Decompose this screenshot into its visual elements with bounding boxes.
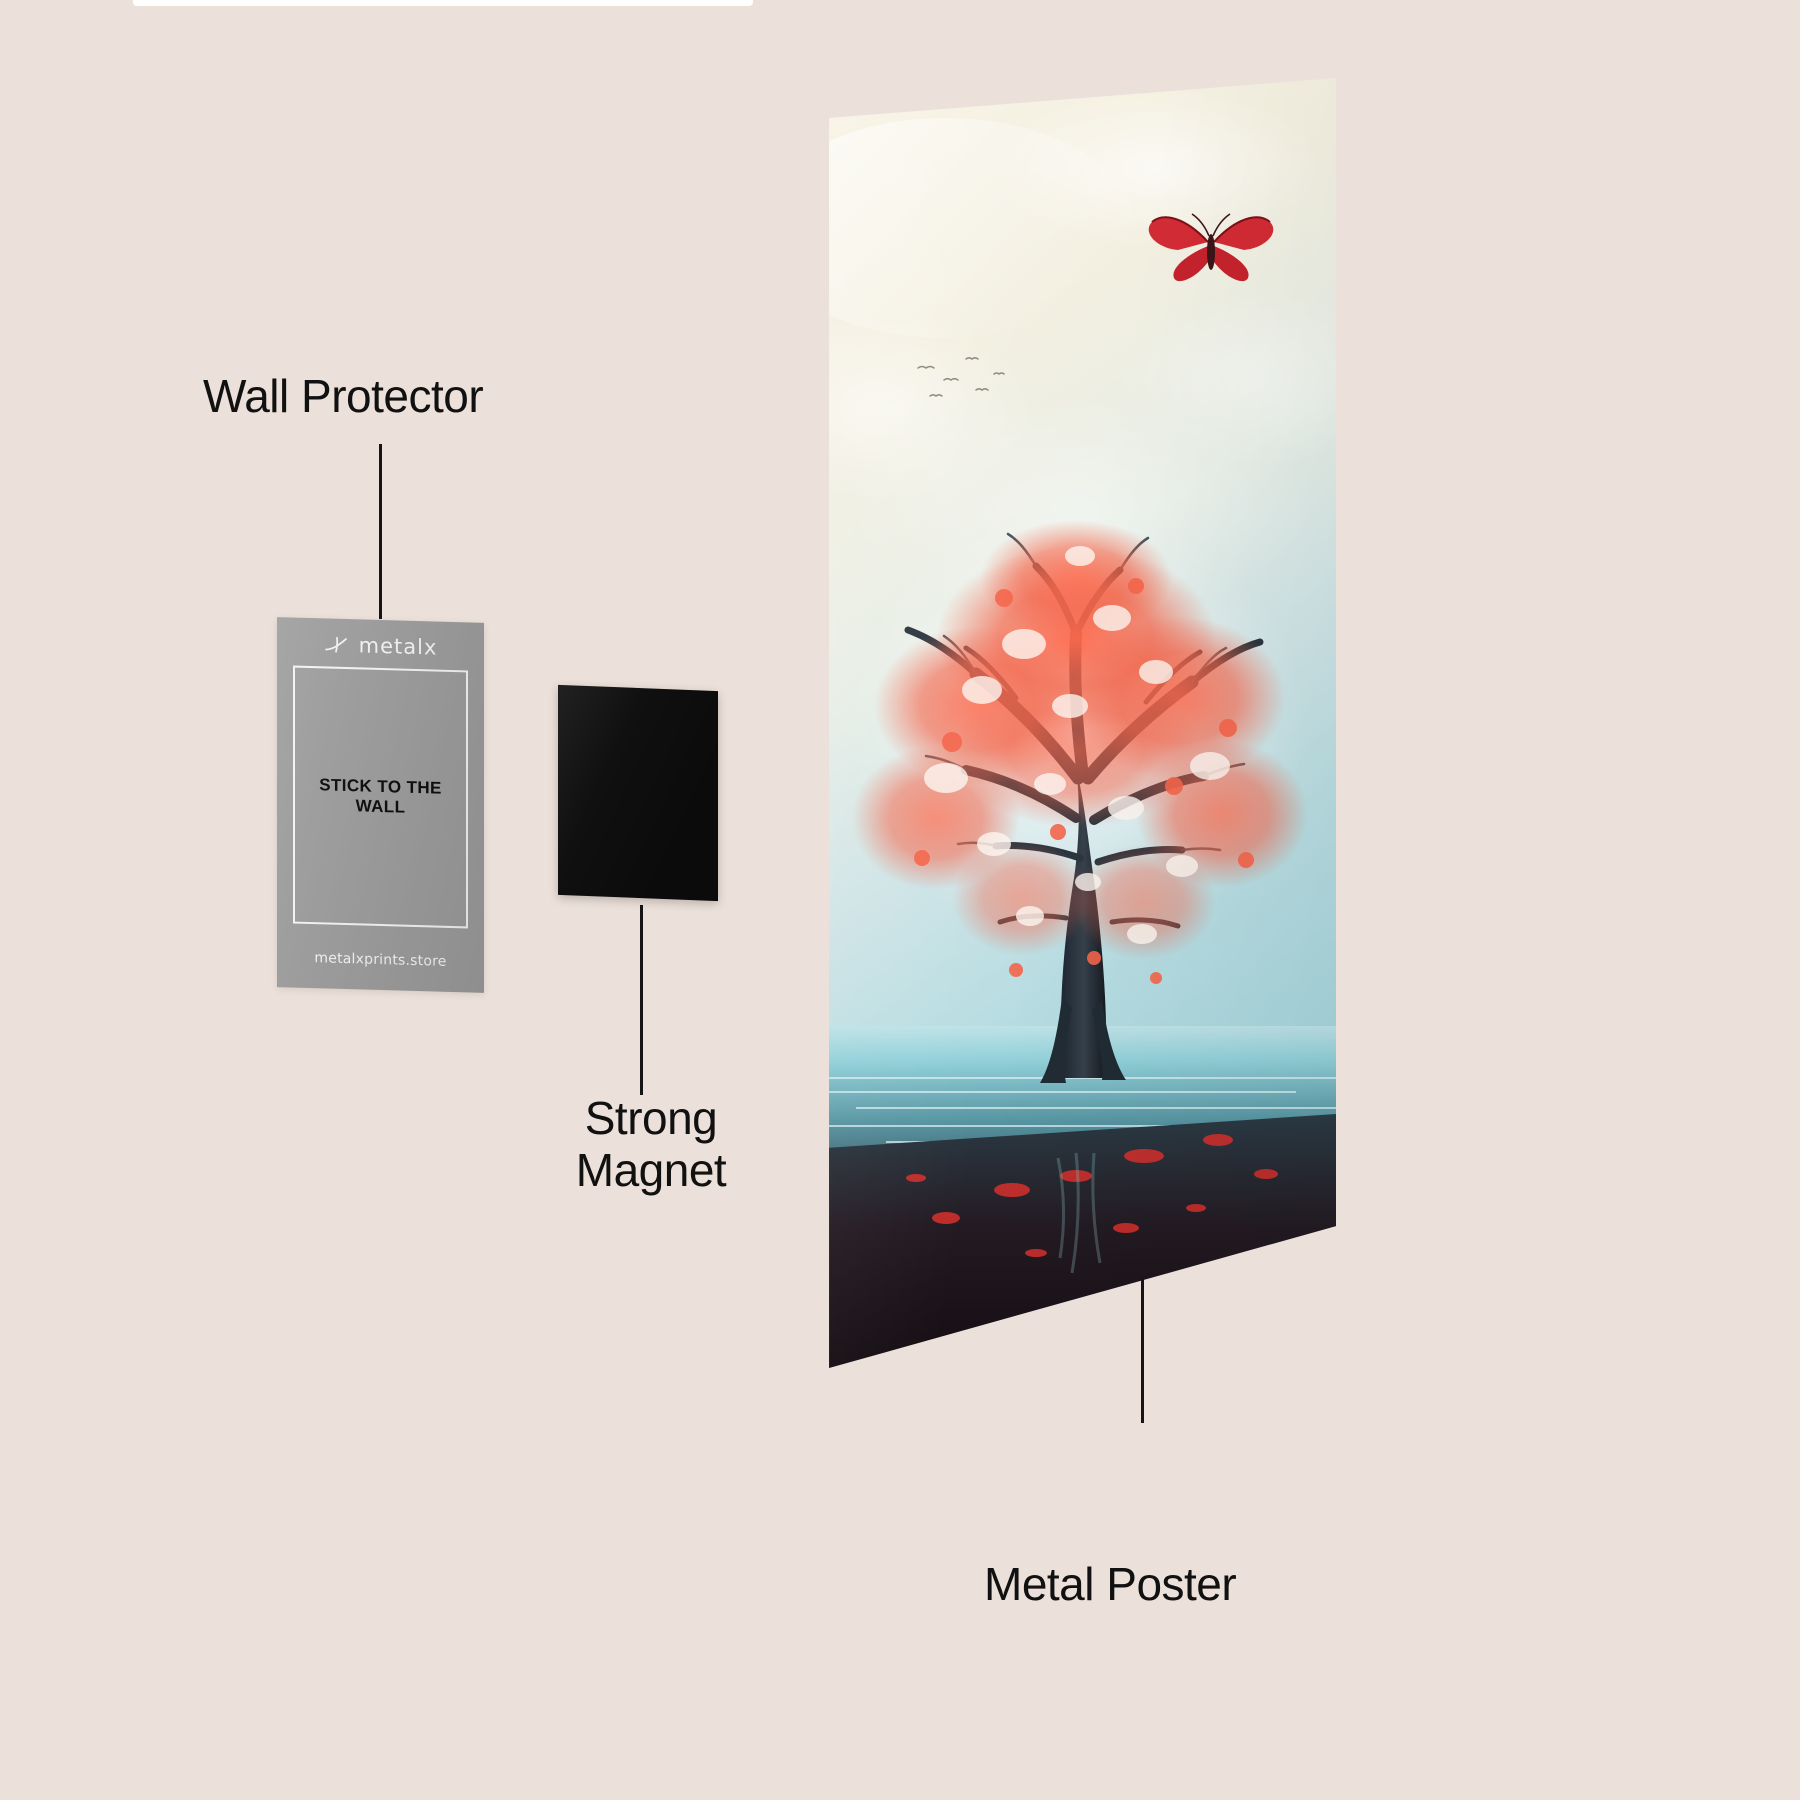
poster-artwork: [826, 78, 1336, 1368]
metalx-cross-icon: [324, 635, 350, 654]
brand-logo: metalx: [277, 631, 484, 661]
leader-line-strong-magnet: [640, 905, 643, 1095]
magnet-sheen: [558, 685, 718, 901]
brand-wordmark: metalx: [359, 633, 438, 659]
leader-line-wall-protector: [379, 444, 382, 619]
callout-label-wall-protector: Wall Protector: [203, 370, 483, 422]
top-notch-bar: [133, 0, 753, 6]
callout-label-metal-poster: Metal Poster: [984, 1558, 1236, 1610]
callout-label-strong-magnet: Strong Magnet: [556, 1092, 746, 1197]
leader-line-metal-poster: [1141, 1278, 1144, 1423]
strong-magnet-tile[interactable]: [558, 685, 718, 901]
product-infographic: Wall Protector metalx STICK TO THE WALL …: [0, 0, 1800, 1800]
metal-poster[interactable]: [826, 78, 1336, 1368]
wall-protector-headline: STICK TO THE WALL: [295, 775, 466, 820]
wall-protector-card[interactable]: metalx STICK TO THE WALL metalxprints.st…: [277, 617, 484, 993]
brand-url: metalxprints.store: [277, 949, 484, 971]
wall-protector-inner-frame: STICK TO THE WALL: [293, 666, 468, 929]
